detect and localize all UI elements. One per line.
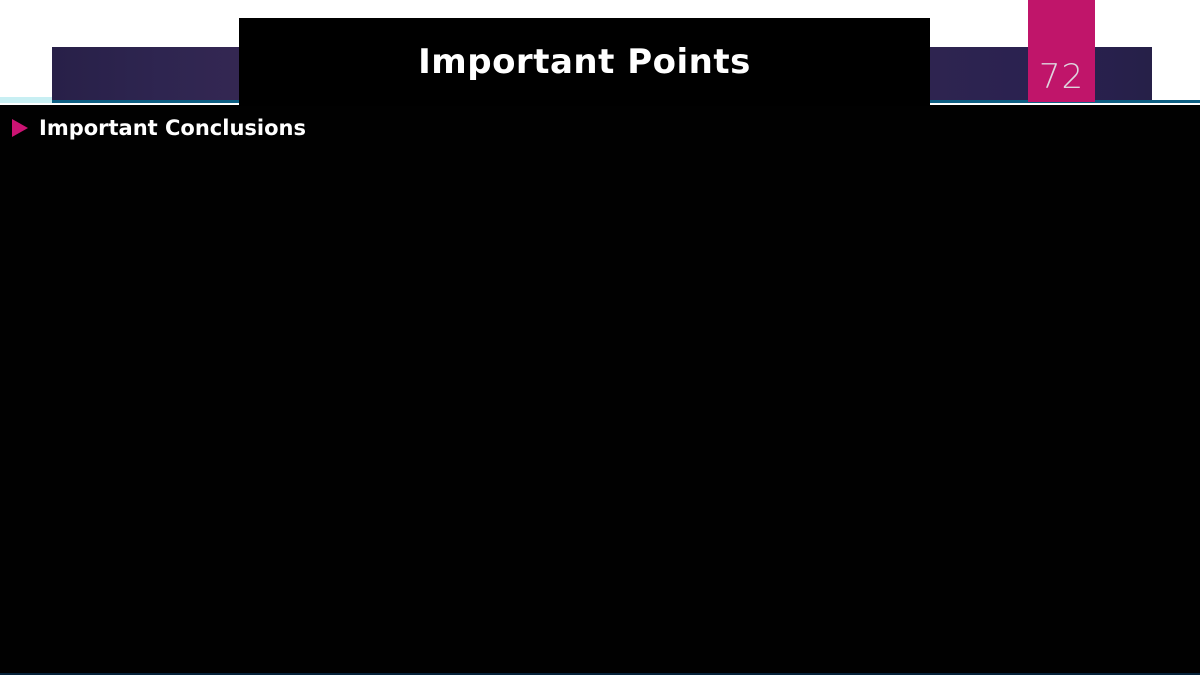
slide-title-plaque: Important Points bbox=[239, 18, 930, 106]
slide-canvas: 72 Important Points Important Conclusion… bbox=[0, 0, 1200, 675]
triangle-bullet-icon bbox=[12, 119, 28, 137]
header-underline-cyan-segment bbox=[0, 97, 52, 103]
page-number-chip: 72 bbox=[1028, 0, 1095, 102]
bullet-list: Important Conclusions bbox=[0, 108, 1200, 148]
slide-title: Important Points bbox=[418, 45, 751, 79]
list-item: Important Conclusions bbox=[0, 108, 1200, 148]
slide-content-area bbox=[0, 105, 1200, 675]
page-number-label: 72 bbox=[1028, 60, 1095, 94]
bullet-item-label: Important Conclusions bbox=[39, 118, 306, 139]
